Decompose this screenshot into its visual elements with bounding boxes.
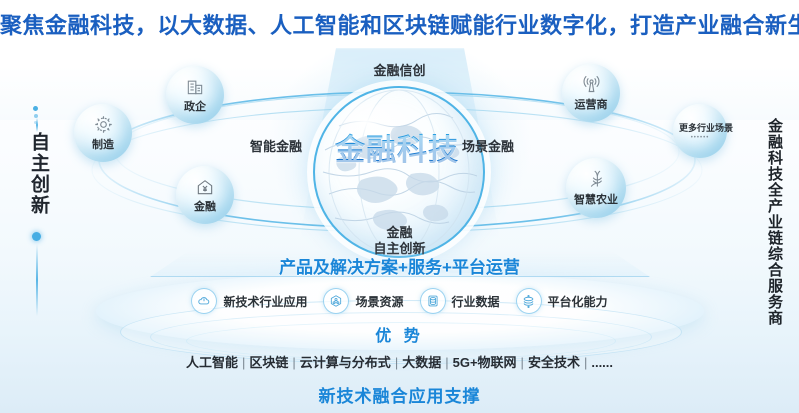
molecule-hex-icon [323,288,349,314]
capability-item-platform-capability[interactable]: 平台化能力 [516,288,608,314]
cloud-icon [191,288,217,314]
wheat-plant-icon [586,169,607,190]
capability-label: 行业数据 [452,293,500,310]
capability-label: 新技术行业应用 [223,293,307,310]
gear-icon [93,114,114,135]
product-line-label: 产品及解决方案+服务+平台运营 [0,253,799,278]
bubble-label: 政企 [184,98,206,114]
capability-item-new-tech[interactable]: 新技术行业应用 [191,288,307,314]
globe-title: 金融科技 [313,125,481,169]
tech-item: 5G+物联网 [453,355,517,370]
tech-separator: | [521,355,524,370]
tech-separator: | [242,355,245,370]
capability-item-scenario-resources[interactable]: 场景资源 [323,288,403,314]
bubble-label: 运营商 [575,96,608,112]
bubble-label: 制造 [92,136,114,152]
infographic-canvas: 聚焦金融科技，以大数据、人工智能和区块链赋能行业数字化，打造产业融合新生态 自主… [0,0,799,413]
tech-item: 云计算与分布式 [300,355,391,370]
bubble-operator[interactable]: 运营商 [562,64,620,122]
bank-money-icon [195,177,215,197]
bubble-government-enterprise[interactable]: 政企 [166,66,224,124]
capability-item-industry-data[interactable]: 行业数据 [420,288,500,314]
tech-separator: | [395,355,398,370]
building-icon [185,77,205,97]
left-line-top [36,118,38,132]
left-vertical-label: 自主创新 [22,132,52,216]
antenna-signal-icon [581,74,602,95]
center-label-right: 场景金融 [462,136,514,155]
tech-separator: | [292,355,295,370]
advantage-label: 优 势 [0,322,799,346]
tech-item: 人工智能 [186,355,238,370]
capability-label: 平台化能力 [548,293,608,310]
tech-separator: | [445,355,448,370]
tech-item: ...... [591,355,613,370]
tech-separator: | [584,355,587,370]
database-icon [420,288,446,314]
bubble-finance[interactable]: 金融 [176,166,234,224]
bubble-more-scenarios[interactable]: 更多行业场景 •••••• [673,104,727,158]
bubble-label: 金融 [194,198,216,214]
bubble-manufacturing[interactable]: 制造 [74,104,132,162]
center-label-left: 智能金融 [250,136,302,155]
bubble-label: 更多行业场景 [679,123,721,134]
page-title: 聚焦金融科技，以大数据、人工智能和区块链赋能行业数字化，打造产业融合新生态 [0,8,799,40]
tech-item: 大数据 [402,355,441,370]
support-label: 新技术融合应用支撑 [0,382,799,407]
tech-item: 安全技术 [528,355,580,370]
layers-icon [516,288,542,314]
capability-row: 新技术行业应用 场景资源 行业数据 [0,288,799,314]
bubble-smart-agriculture[interactable]: 智慧农业 [566,158,626,218]
technology-list: 人工智能|区块链|云计算与分布式|大数据|5G+物联网|安全技术|...... [0,352,799,371]
ellipsis-icon: •••••• [691,135,710,141]
capability-label: 场景资源 [355,293,403,310]
center-label-top: 金融信创 [0,60,799,79]
tech-item: 区块链 [249,355,288,370]
bubble-label: 智慧农业 [574,191,618,207]
